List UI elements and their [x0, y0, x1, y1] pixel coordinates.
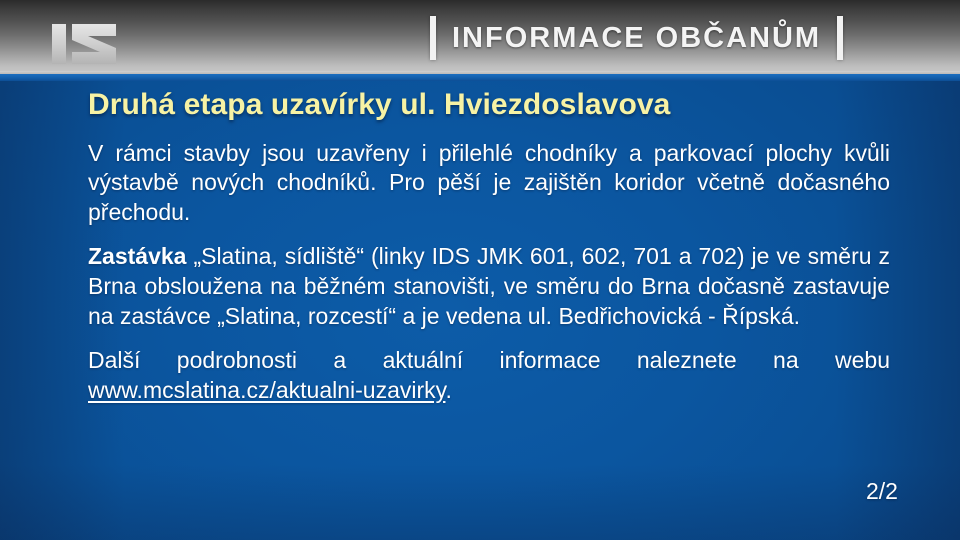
website-link[interactable]: www.mcslatina.cz/aktualni-uzavirky: [88, 377, 445, 403]
header-title-group: INFORMACE OBČANŮM: [430, 14, 843, 62]
header-left-bracket-icon: [430, 16, 436, 60]
slide-content: Druhá etapa uzavírky ul. Hviezdoslavova …: [88, 88, 890, 406]
page-title: Druhá etapa uzavírky ul. Hviezdoslavova: [88, 88, 890, 122]
header-right-bracket-icon: [837, 16, 843, 60]
paragraph-more-info-lead: Další podrobnosti a aktuální informace n…: [88, 347, 890, 373]
header-band: INFORMACE OBČANŮM: [0, 0, 960, 74]
paragraph-more-info: Další podrobnosti a aktuální informace n…: [88, 346, 890, 406]
header-title: INFORMACE OBČANŮM: [452, 22, 821, 55]
slide: INFORMACE OBČANŮM Druhá etapa uzavírky u…: [0, 0, 960, 540]
paragraph-bus-stop-lead: Zastávka: [88, 243, 186, 269]
paragraph-bus-stop-text: „Slatina, sídliště“ (linky IDS JMK 601, …: [88, 243, 890, 329]
paragraph-construction: V rámci stavby jsou uzavřeny i přilehlé …: [88, 139, 890, 229]
page-number: 2/2: [866, 480, 898, 503]
paragraph-bus-stop: Zastávka „Slatina, sídliště“ (linky IDS …: [88, 242, 890, 332]
header-underline-strip: [0, 74, 960, 81]
is-logo-icon: [50, 22, 130, 66]
paragraph-more-info-tail: .: [445, 377, 451, 403]
